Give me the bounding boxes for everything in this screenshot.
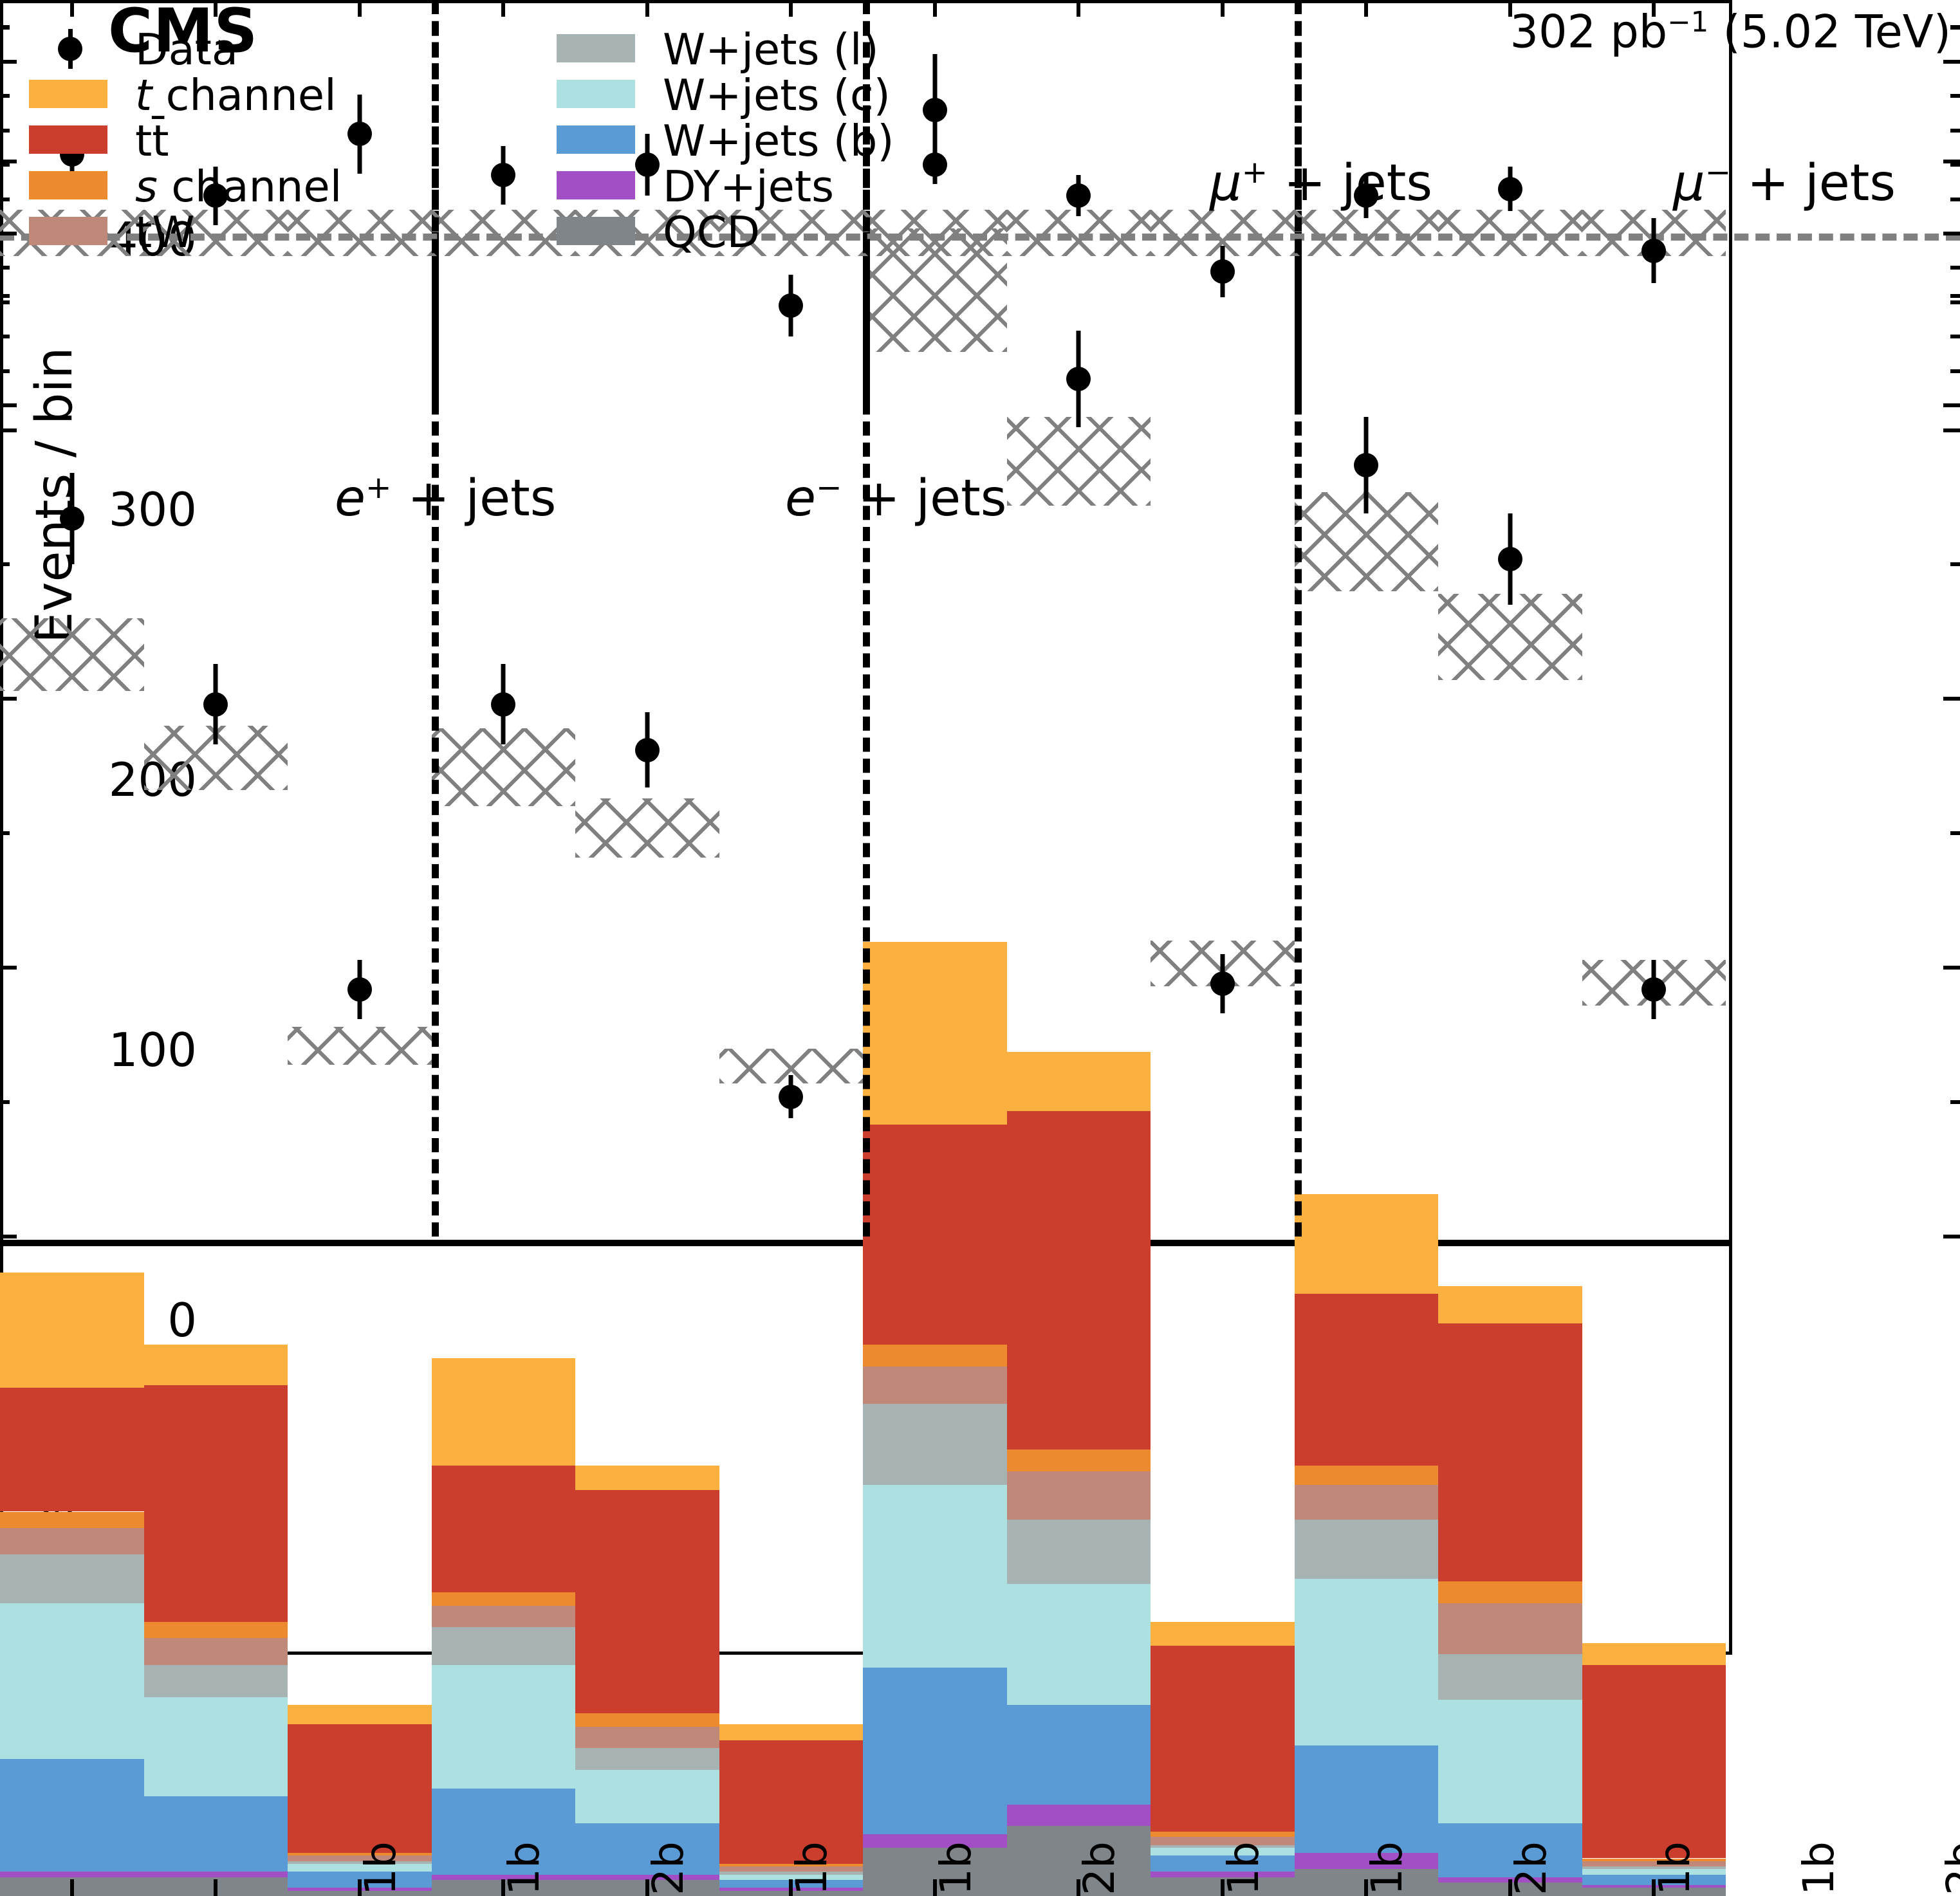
ratio-x-tick (70, 1879, 74, 1896)
ratio-x-tick-top (501, 0, 505, 17)
legend-label-italic: t (135, 70, 152, 120)
ratio-x-tick-top (1077, 0, 1080, 17)
legend-label: tt̄ (135, 116, 169, 166)
ratio-y-tick-minor-right (1950, 129, 1960, 133)
ratio-data-marker (347, 122, 372, 146)
legend-label-rest: channel (152, 70, 336, 120)
ratio-data-marker (491, 163, 515, 187)
channel-charge: − (1705, 154, 1732, 190)
channel-rest: + jets (842, 470, 1007, 528)
legend-label-italic: s (135, 161, 158, 212)
ratio-x-tick-top (214, 0, 217, 17)
ratio-channel-divider (432, 0, 439, 405)
ratio-y-tick-minor-right (1950, 198, 1960, 201)
channel-symbol: μ (1673, 154, 1705, 212)
legend-swatch (557, 34, 635, 62)
ratio-y-tick-minor (0, 335, 10, 338)
legend-label: t channel (135, 70, 337, 120)
legend-marker-data (29, 26, 107, 71)
ratio-x-tick-top (645, 0, 649, 17)
ratio-x-tick-top (358, 0, 362, 17)
legend-swatch (557, 125, 635, 154)
figure-root: CMS 302 pb−1 (5.02 TeV) Events / bin Dat… (0, 0, 1960, 1896)
ratio-y-tick-minor (0, 26, 10, 30)
ratio-y-tick-minor (0, 198, 10, 201)
legend-label: QCD (663, 207, 760, 257)
legend-label: W+jets (l) (663, 24, 879, 75)
ratio-data-point (1062, 0, 1095, 405)
legend-swatch (557, 217, 635, 245)
channel-rest: + jets (392, 470, 557, 528)
legend-swatch (29, 217, 107, 245)
channel-rest: + jets (1268, 154, 1432, 212)
ratio-y-tick-minor (0, 94, 10, 98)
ratio-data-marker (1210, 259, 1235, 284)
ratio-x-tick-top (70, 0, 74, 17)
x-tick-label: 3j1b (1794, 1841, 1844, 1896)
ratio-x-tick (214, 1879, 217, 1896)
channel-charge: − (816, 470, 842, 506)
legend-label: DY+jets (663, 161, 834, 212)
ratio-y-tick-minor (0, 369, 10, 373)
channel-symbol: e (335, 470, 365, 528)
ratio-y-tick-minor (0, 300, 10, 304)
x-tick-label: 3j1b (499, 1841, 549, 1896)
ratio-x-tick-top (1508, 0, 1512, 17)
x-tick-label: 3j1b (1362, 1841, 1412, 1896)
channel-label-muminus: μ− + jets (1673, 154, 1896, 212)
channel-charge: + (1242, 154, 1268, 190)
legend-label-rest: channel (158, 161, 342, 212)
x-tick-label: 3j1b (931, 1841, 981, 1896)
x-tick-label: 3j2b (1075, 1841, 1124, 1896)
ratio-x-tick-top (1364, 0, 1368, 17)
legend-swatch (557, 80, 635, 108)
ratio-x-tick-top (1652, 0, 1656, 17)
ratio-y-tick-major-right (1943, 60, 1960, 64)
x-tick-label: 2j1b (787, 1841, 837, 1896)
ratio-y-tick-major-right (1943, 232, 1960, 235)
ratio-y-tick-minor-right (1950, 335, 1960, 338)
x-tick-label: 3j2b (643, 1841, 693, 1896)
ratio-y-tick-minor-right (1950, 163, 1960, 167)
x-tick-label: 2j1b (1650, 1841, 1699, 1896)
ratio-y-tick-minor-right (1950, 94, 1960, 98)
ratio-y-tick-minor (0, 163, 10, 167)
x-tick-label: 2j1b (356, 1841, 405, 1896)
legend-swatch (29, 171, 107, 199)
ratio-x-tick-top (1221, 0, 1225, 17)
ratio-y-tick-major-right (1943, 403, 1960, 407)
ratio-x-tick-top (933, 0, 937, 17)
ratio-y-tick-minor-right (1950, 369, 1960, 373)
ratio-data-marker (1498, 177, 1522, 201)
ratio-y-tick-major (0, 232, 17, 235)
channel-label-muplus: μ+ + jets (1210, 154, 1432, 212)
ratio-data-marker (923, 152, 947, 177)
legend-marker-dot (58, 37, 82, 61)
ratio-y-tick-minor-right (1950, 300, 1960, 304)
x-tick-label: 2j1b (1219, 1841, 1268, 1896)
ratio-y-tick-major (0, 60, 17, 64)
channel-label-eminus: e− + jets (785, 470, 1006, 528)
legend-swatch (29, 125, 107, 154)
ratio-data-point (344, 0, 376, 405)
ratio-data-point (631, 0, 663, 405)
ratio-data-marker (1641, 239, 1666, 263)
ratio-data-point (487, 0, 519, 405)
ratio-plot-area (0, 0, 1960, 1896)
ratio-y-tick-minor-right (1950, 266, 1960, 270)
channel-symbol: e (785, 470, 816, 528)
ratio-data-marker (1066, 183, 1091, 208)
ratio-y-tick-minor (0, 129, 10, 133)
legend-swatch (29, 80, 107, 108)
ratio-data-point (1638, 0, 1670, 405)
ratio-plot-panel (0, 1243, 1732, 1655)
ratio-y-tick-minor (0, 266, 10, 270)
ratio-y-tick-minor-right (1950, 26, 1960, 30)
ratio-data-marker (635, 152, 660, 177)
ratio-x-tick-top (789, 0, 793, 17)
ratio-y-tick-major (0, 403, 17, 407)
x-tick-label: 3j2b (1506, 1841, 1556, 1896)
channel-symbol: μ (1210, 154, 1242, 212)
legend-swatch (557, 171, 635, 199)
legend-label: W+jets (b) (663, 116, 894, 166)
ratio-data-point (1494, 0, 1526, 405)
legend-label: W+jets (c) (663, 70, 891, 120)
ratio-data-marker (779, 293, 803, 318)
ratio-data-point (919, 0, 951, 405)
x-tick-label: 3j2b (1937, 1841, 1960, 1896)
legend-label: Data (135, 24, 238, 75)
channel-label-eplus: e+ + jets (335, 470, 556, 528)
channel-charge: + (365, 470, 392, 506)
channel-rest: + jets (1731, 154, 1896, 212)
legend-label: tW (135, 207, 195, 257)
legend-label: s channel (135, 161, 342, 212)
